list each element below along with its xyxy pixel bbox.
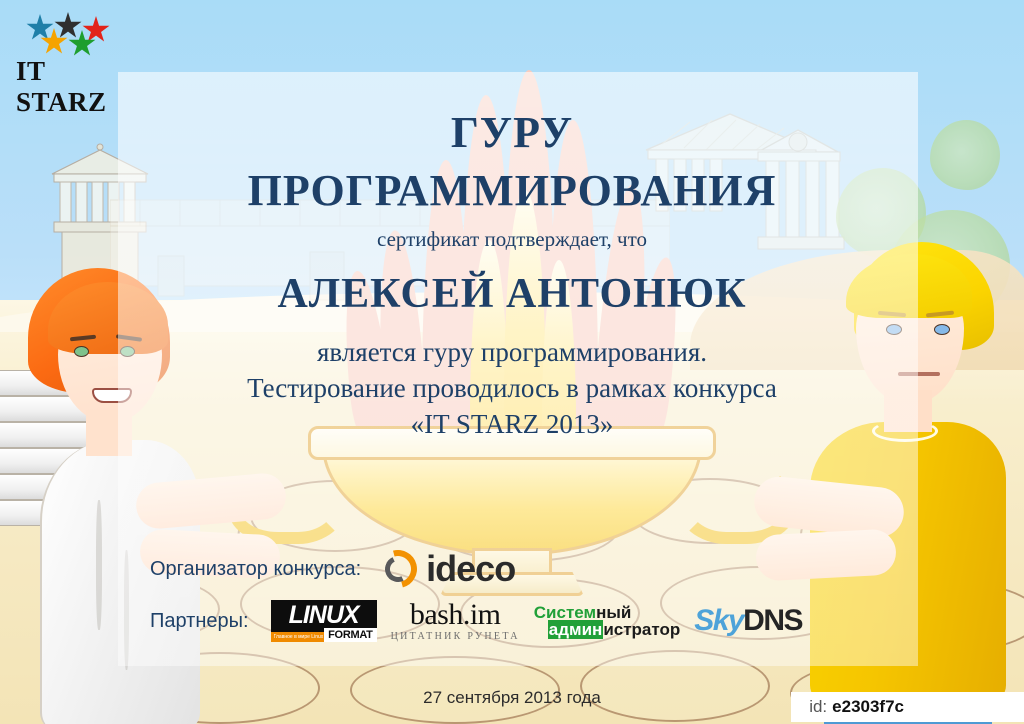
star-icon (82, 16, 110, 44)
partner-logo-sysadmin: Системный администратор (534, 604, 681, 638)
skydns-sky: Sky (694, 604, 743, 637)
certificate-content: ГУРУ ПРОГРАММИРОВАНИЯ сертификат подтвер… (0, 0, 1024, 724)
skydns-dns: DNS (743, 604, 802, 637)
certificate-subtitle: сертификат подтверждает, что (0, 227, 1024, 252)
format-wordmark: FORMAT (324, 628, 376, 642)
certificate-title: ГУРУ ПРОГРАММИРОВАНИЯ (0, 104, 1024, 220)
organizer-row: Организатор конкурса: ideco (150, 548, 710, 590)
partner-logo-skydns: SkyDNS (694, 604, 802, 638)
ideco-wordmark: ideco (426, 548, 515, 590)
sysadmin-istrator: истратор (603, 620, 680, 639)
star-icon (26, 14, 54, 42)
partner-logo-bash-im: bash.im ЦИТАТНИК РУНЕТА (391, 600, 520, 642)
partner-logo-linux-format: LINUX Главное в мире Linux FORMAT (271, 600, 377, 642)
logo-stars (14, 12, 134, 56)
it-starz-logo[interactable]: IT STARZ (14, 12, 134, 92)
certificate-canvas: ГУРУ ПРОГРАММИРОВАНИЯ сертификат подтвер… (0, 0, 1024, 724)
body-line-1: является гуру программирования. (0, 334, 1024, 370)
sysadmin-admin: админ (548, 620, 604, 639)
body-line-3: «IT STARZ 2013» (0, 406, 1024, 442)
bash-tagline: ЦИТАТНИК РУНЕТА (391, 632, 520, 642)
certificate-body: является гуру программирования. Тестиров… (0, 334, 1024, 442)
sysadmin-line-2: администратор (548, 621, 681, 638)
id-label: id: (809, 697, 827, 716)
id-value: e2303f7c (832, 697, 904, 716)
ideco-ring-icon (379, 550, 417, 588)
body-line-2: Тестирование проводилось в рамках конкур… (0, 370, 1024, 406)
star-icon (54, 12, 82, 40)
organizer-label: Организатор конкурса: (150, 558, 361, 581)
bash-wordmark: bash.im (410, 600, 501, 630)
title-line-1: ГУРУ (0, 104, 1024, 162)
recipient-name: АЛЕКСЕЙ АНТОНЮК (0, 270, 1024, 318)
partners-label: Партнеры: (150, 610, 249, 633)
ideco-logo: ideco (379, 548, 515, 590)
partners-row: Партнеры: LINUX Главное в мире Linux FOR… (150, 600, 910, 642)
certificate-id-badge: id:e2303f7c (791, 692, 1024, 722)
sysadmin-c-glyph: С (534, 603, 546, 622)
title-line-2: ПРОГРАММИРОВАНИЯ (0, 162, 1024, 220)
linux-format-tagline: Главное в мире Linux (271, 632, 327, 642)
logo-wordmark: IT STARZ (16, 56, 134, 118)
linux-wordmark: LINUX (289, 601, 359, 630)
sysadmin-line-1: Системный (534, 604, 681, 621)
